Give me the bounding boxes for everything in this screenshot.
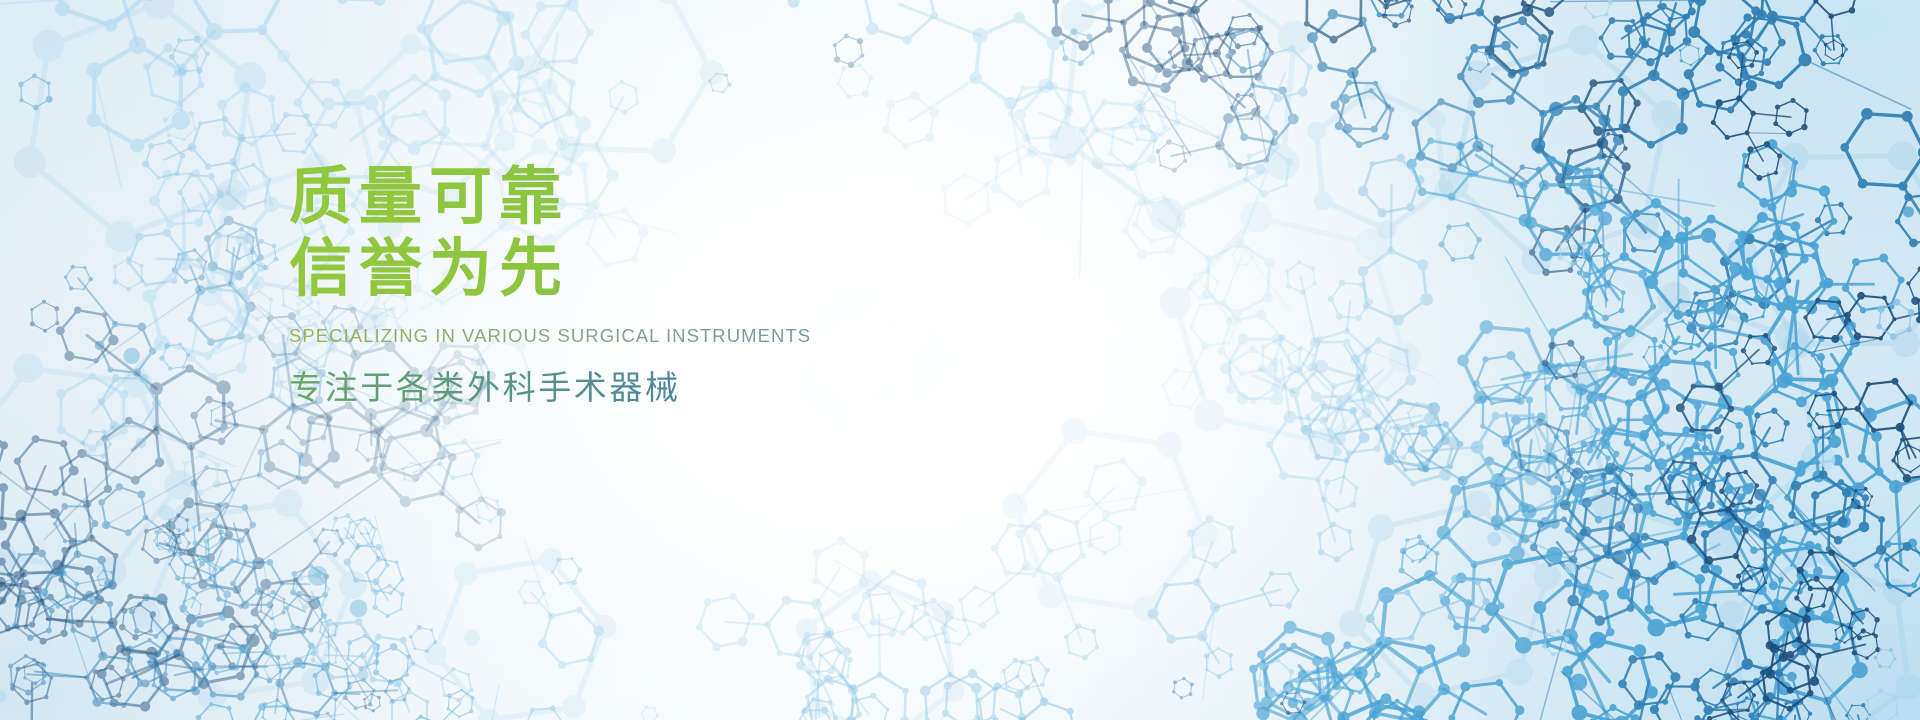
headline-line-2: 信誉为先	[289, 235, 1049, 303]
subtitle-english: SPECIALIZING IN VARIOUS SURGICAL INSTRUM…	[289, 303, 1049, 347]
headline-line-1: 质量可靠	[289, 163, 1049, 231]
hero-banner: 质量可靠 信誉为先 SPECIALIZING IN VARIOUS SURGIC…	[0, 0, 1920, 720]
subtitle-chinese: 专注于各类外科手术器械	[289, 347, 1049, 409]
banner-text-block: 质量可靠 信誉为先 SPECIALIZING IN VARIOUS SURGIC…	[289, 163, 1049, 409]
